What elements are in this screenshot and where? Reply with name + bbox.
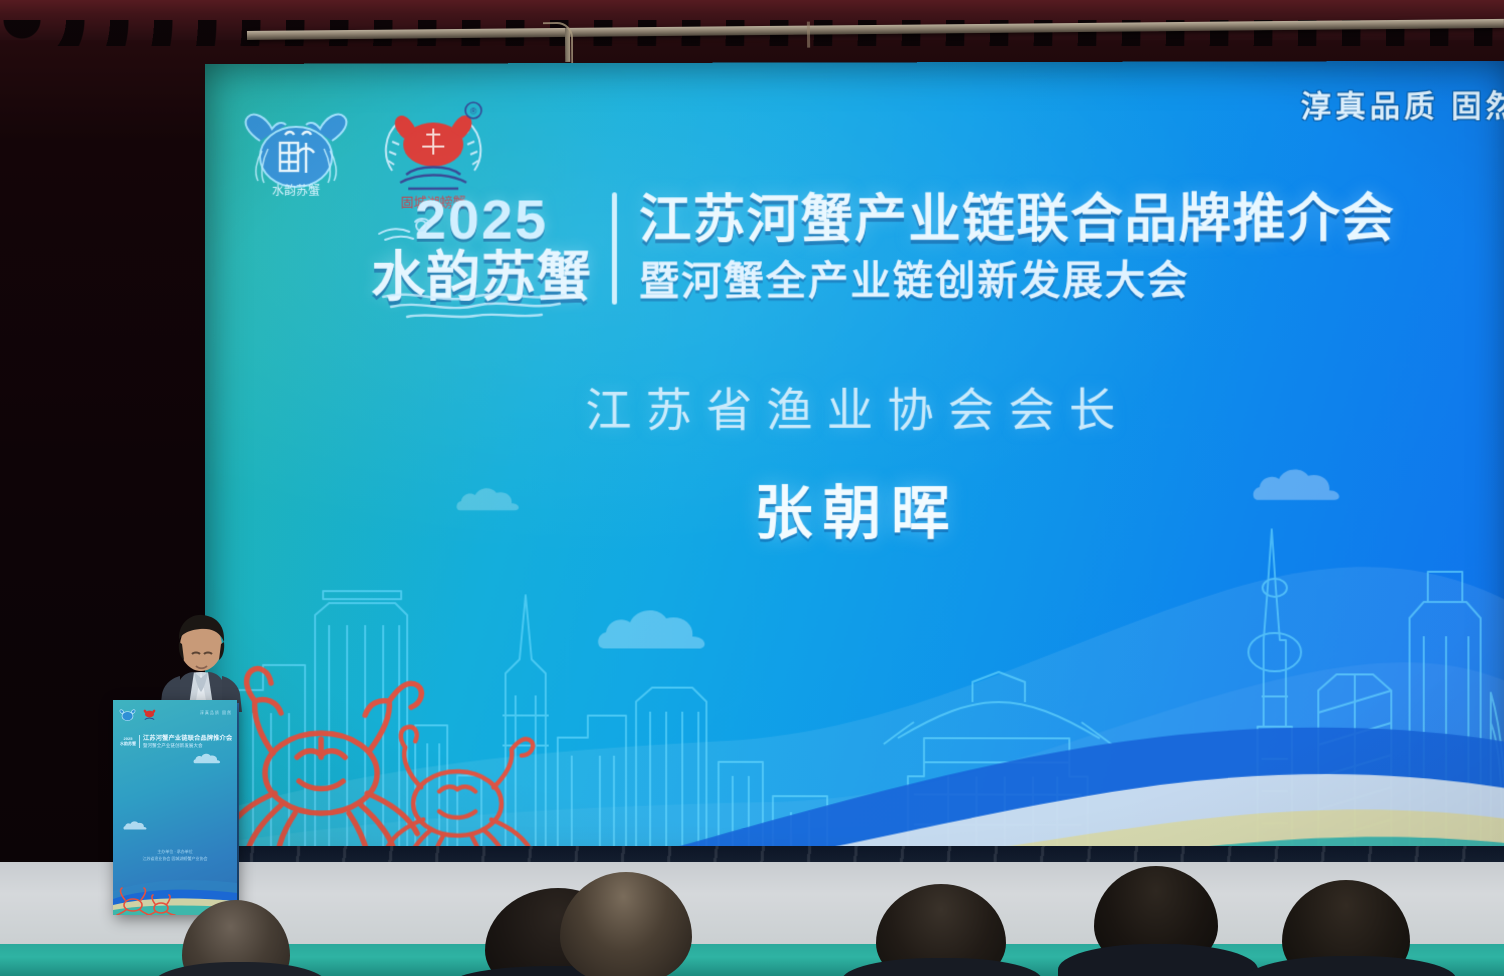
corner-slogan: 淳真品质 固然 bbox=[1301, 81, 1504, 126]
podium-brand: 水韵苏蟹 bbox=[120, 741, 136, 746]
speaker-person bbox=[148, 612, 254, 712]
podium-title-row: 2025 水韵苏蟹 江苏河蟹产业链联合品牌推介会 暨河蟹全产业链创新发展大会 bbox=[120, 733, 232, 749]
podium-title: 江苏河蟹产业链联合品牌推介会 bbox=[143, 733, 232, 742]
podium-slogan: 淳真品质 固然 bbox=[200, 710, 232, 716]
event-title: 江苏河蟹产业链联合品牌推介会 bbox=[639, 190, 1395, 250]
event-title-block: 2025 水韵苏蟹 江苏河蟹产业链联合品牌推介会 暨河蟹全产业链创新发展大会 bbox=[371, 190, 1395, 307]
logo-caption: 水韵苏蟹 bbox=[272, 183, 320, 198]
podium-cloud-2 bbox=[123, 820, 149, 830]
podium-crab-logo-blue bbox=[119, 707, 136, 724]
brand-cloud-motif bbox=[375, 216, 435, 242]
speaker-name: 张朝晖 bbox=[205, 466, 1504, 551]
podium-logo-row bbox=[119, 707, 158, 724]
rail-wire bbox=[543, 22, 573, 64]
speaker-block: 江苏省渔业协会会长 张朝晖 bbox=[205, 373, 1504, 550]
shuiyun-suxie-crab-logo: 水韵苏蟹 bbox=[240, 99, 352, 207]
brand-wave-motif bbox=[363, 286, 594, 322]
event-brand-block: 2025 水韵苏蟹 bbox=[371, 191, 612, 306]
podium-crab-logo-red bbox=[141, 707, 158, 724]
event-name-block: 江苏河蟹产业链联合品牌推介会 暨河蟹全产业链创新发展大会 bbox=[639, 190, 1395, 306]
trademark-mark: ® bbox=[470, 106, 477, 116]
podium: 淳真品质 固然 2025 水韵苏蟹 江苏河蟹产业链联合品牌推介会 暨河蟹全产业链… bbox=[113, 700, 237, 915]
rail-wire-secondary bbox=[807, 22, 810, 48]
title-divider bbox=[612, 193, 617, 305]
event-subtitle: 暨河蟹全产业链创新发展大会 bbox=[639, 257, 1395, 306]
cloud-decoration bbox=[596, 604, 717, 650]
speaker-role: 江苏省渔业协会会长 bbox=[205, 373, 1504, 440]
podium-brand-block: 2025 水韵苏蟹 bbox=[120, 736, 136, 746]
podium-titles: 江苏河蟹产业链联合品牌推介会 暨河蟹全产业链创新发展大会 bbox=[143, 733, 232, 749]
podium-subtitle: 暨河蟹全产业链创新发展大会 bbox=[143, 743, 232, 749]
led-screen: 水韵苏蟹 ® 固城湖螃蟹 bbox=[205, 61, 1504, 878]
podium-divider bbox=[139, 735, 140, 748]
conference-photo: 水韵苏蟹 ® 固城湖螃蟹 bbox=[0, 0, 1504, 976]
crab-illustration bbox=[225, 645, 546, 876]
podium-cloud-1 bbox=[193, 752, 223, 764]
